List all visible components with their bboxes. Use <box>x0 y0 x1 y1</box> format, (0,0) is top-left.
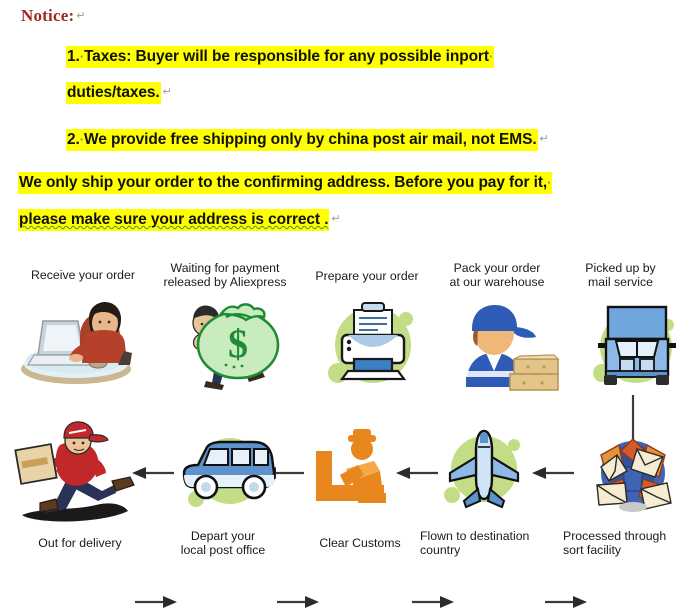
flow-arrow-left-1 <box>528 465 574 481</box>
notice-line-3-text: We provide free shipping only by china p… <box>84 131 537 148</box>
notice-line-3-marker: 2. <box>67 131 80 148</box>
notice-line-4-text: We only ship your order to the confirmin… <box>19 174 547 191</box>
warehouse-worker-icon <box>450 299 560 391</box>
printer-icon <box>318 297 428 392</box>
notice-line-1-marker: 1. <box>67 48 80 65</box>
money-bag-icon: $ <box>176 297 294 392</box>
flow-label-prepare-your-order: Prepare your order <box>302 270 432 284</box>
flow-arrow-right-4 <box>545 594 587 610</box>
flow-label-waiting-for-payment: Waiting for payment released by Aliexpre… <box>155 262 295 289</box>
flow-label-pack-your-order: Pack your order at our warehouse <box>432 262 562 289</box>
person-at-computer-icon <box>14 297 144 389</box>
flow-label-depart-your-local-post-office: Depart your local post office <box>158 530 288 557</box>
notice-line-3: 2.·We provide free shipping only by chin… <box>66 131 549 149</box>
flow-label-clear-customs: Clear Customs <box>300 537 420 551</box>
flow-arrow-right-1 <box>135 594 177 610</box>
flow-arrow-right-3 <box>412 594 454 610</box>
notice-line-4: We only ship your order to the confirmin… <box>18 174 552 192</box>
notice-line-1: 1.·Taxes: Buyer will be responsible for … <box>66 48 494 66</box>
flow-label-flown-to-destination-country: Flown to destination country <box>420 530 565 557</box>
space-dot: · <box>489 49 493 64</box>
notice-title-text: Notice: <box>21 6 74 25</box>
delivery-runner-icon <box>16 419 142 527</box>
notice-line-2-text: duties/taxes. <box>67 84 160 101</box>
flow-label-out-for-delivery: Out for delivery <box>15 537 145 551</box>
notice-line-2: duties/taxes.↵ <box>66 84 172 102</box>
shipping-flow-diagram: Receive your order Waiting for payment r… <box>0 255 685 586</box>
pilcrow-mark: ↵ <box>74 10 85 22</box>
notice-line-1-text: Taxes: Buyer will be responsible for any… <box>84 48 489 65</box>
flow-label-receive-your-order: Receive your order <box>18 269 148 283</box>
pilcrow-mark: ↵ <box>538 133 549 145</box>
mail-truck-icon <box>586 297 685 395</box>
sort-facility-icon <box>583 421 683 515</box>
customs-officer-icon <box>312 427 408 513</box>
airplane-icon <box>434 423 534 515</box>
svg-text:$: $ <box>228 321 248 366</box>
pilcrow-mark: ↵ <box>161 86 172 98</box>
notice-line-5-text: please make sure your address is correct… <box>19 211 328 228</box>
notice-title: Notice:↵ <box>21 6 86 26</box>
flow-arrow-right-2 <box>277 594 319 610</box>
pilcrow-mark: ↵ <box>329 213 340 225</box>
delivery-van-icon <box>172 427 282 517</box>
flow-label-processed-through-sort-facility: Processed through sort facility <box>563 530 685 557</box>
notice-line-5: please make sure your address is correct… <box>18 211 341 229</box>
flow-label-picked-up-by-mail-service: Picked up by mail service <box>563 262 678 289</box>
space-dot: · <box>547 175 551 190</box>
